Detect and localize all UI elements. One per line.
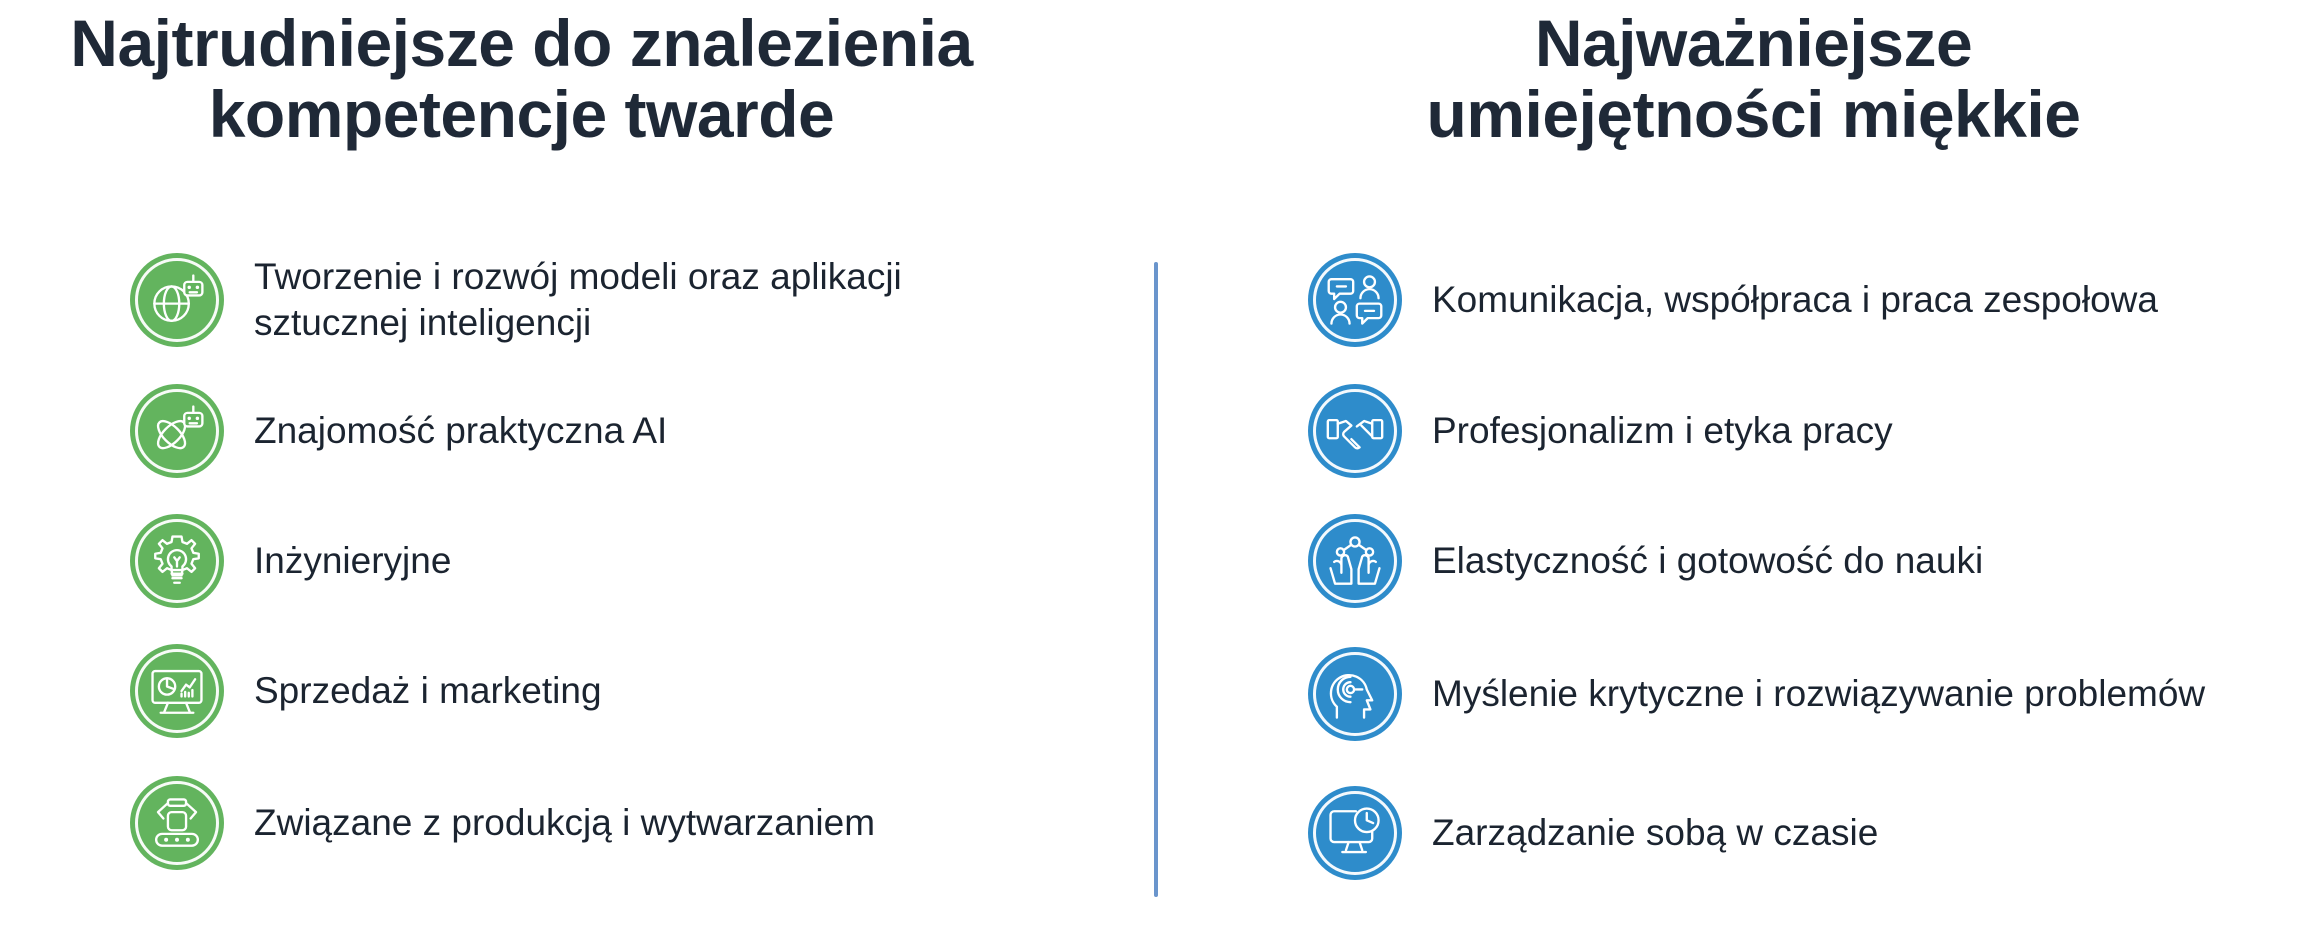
title-cell-soft-skills: Najważniejsze umiejętności miękkie	[1153, 0, 2306, 215]
page-title-soft-skills: Najważniejsze umiejętności miękkie	[1427, 8, 2081, 151]
globe-robot-icon	[130, 253, 224, 347]
monitor-charts-icon	[130, 644, 224, 738]
page-title-hard-skills: Najtrudniejsze do znalezienia kompetencj…	[70, 8, 972, 151]
list-item[interactable]: Tworzenie i rozwój modeli oraz aplikacji…	[130, 253, 1054, 347]
handshake-icon	[1308, 384, 1402, 478]
head-brain-icon	[1308, 647, 1402, 741]
list-item-label: Inżynieryjne	[254, 538, 451, 584]
list-item-label: Elastyczność i gotowość do nauki	[1432, 538, 1983, 584]
atom-robot-icon	[130, 384, 224, 478]
list-item[interactable]: Znajomość praktyczna AI	[130, 384, 667, 478]
list-item[interactable]: Komunikacja, współpraca i praca zespołow…	[1308, 253, 2158, 347]
list-item-label: Profesjonalizm i etyka pracy	[1432, 408, 1893, 454]
columns-wrapper: Tworzenie i rozwój modeli oraz aplikacji…	[0, 215, 2306, 952]
list-item-label: Tworzenie i rozwój modeli oraz aplikacji…	[254, 254, 1054, 346]
hands-network-icon	[1308, 514, 1402, 608]
list-item[interactable]: Związane z produkcją i wytwarzaniem	[130, 776, 875, 870]
list-item-label: Myślenie krytyczne i rozwiązywanie probl…	[1432, 671, 2205, 717]
list-item[interactable]: Profesjonalizm i etyka pracy	[1308, 384, 1893, 478]
list-item-label: Zarządzanie sobą w czasie	[1432, 810, 1878, 856]
list-item-label: Związane z produkcją i wytwarzaniem	[254, 800, 875, 846]
list-item-label: Znajomość praktyczna AI	[254, 408, 667, 454]
list-item[interactable]: Sprzedaż i marketing	[130, 644, 602, 738]
column-soft-skills: Komunikacja, współpraca i praca zespołow…	[1153, 215, 2306, 952]
monitor-clock-icon	[1308, 786, 1402, 880]
list-item[interactable]: Zarządzanie sobą w czasie	[1308, 786, 1878, 880]
robot-arm-conveyor-icon	[130, 776, 224, 870]
titles-row: Najtrudniejsze do znalezienia kompetencj…	[0, 0, 2306, 215]
list-item-label: Komunikacja, współpraca i praca zespołow…	[1432, 277, 2158, 323]
list-item[interactable]: Inżynieryjne	[130, 514, 451, 608]
title-line-2: kompetencje twarde	[70, 79, 972, 150]
title-line-2: umiejętności miękkie	[1427, 79, 2081, 150]
title-line-1: Najtrudniejsze do znalezienia	[70, 6, 972, 80]
infographic-board: Najtrudniejsze do znalezienia kompetencj…	[0, 0, 2306, 952]
people-speech-bubbles-icon	[1308, 253, 1402, 347]
list-item[interactable]: Elastyczność i gotowość do nauki	[1308, 514, 1983, 608]
gear-lightbulb-icon	[130, 514, 224, 608]
list-item-label: Sprzedaż i marketing	[254, 668, 602, 714]
list-item[interactable]: Myślenie krytyczne i rozwiązywanie probl…	[1308, 647, 2205, 741]
column-hard-skills: Tworzenie i rozwój modeli oraz aplikacji…	[0, 215, 1153, 952]
title-cell-hard-skills: Najtrudniejsze do znalezienia kompetencj…	[0, 0, 1153, 215]
title-line-1: Najważniejsze	[1535, 6, 1972, 80]
